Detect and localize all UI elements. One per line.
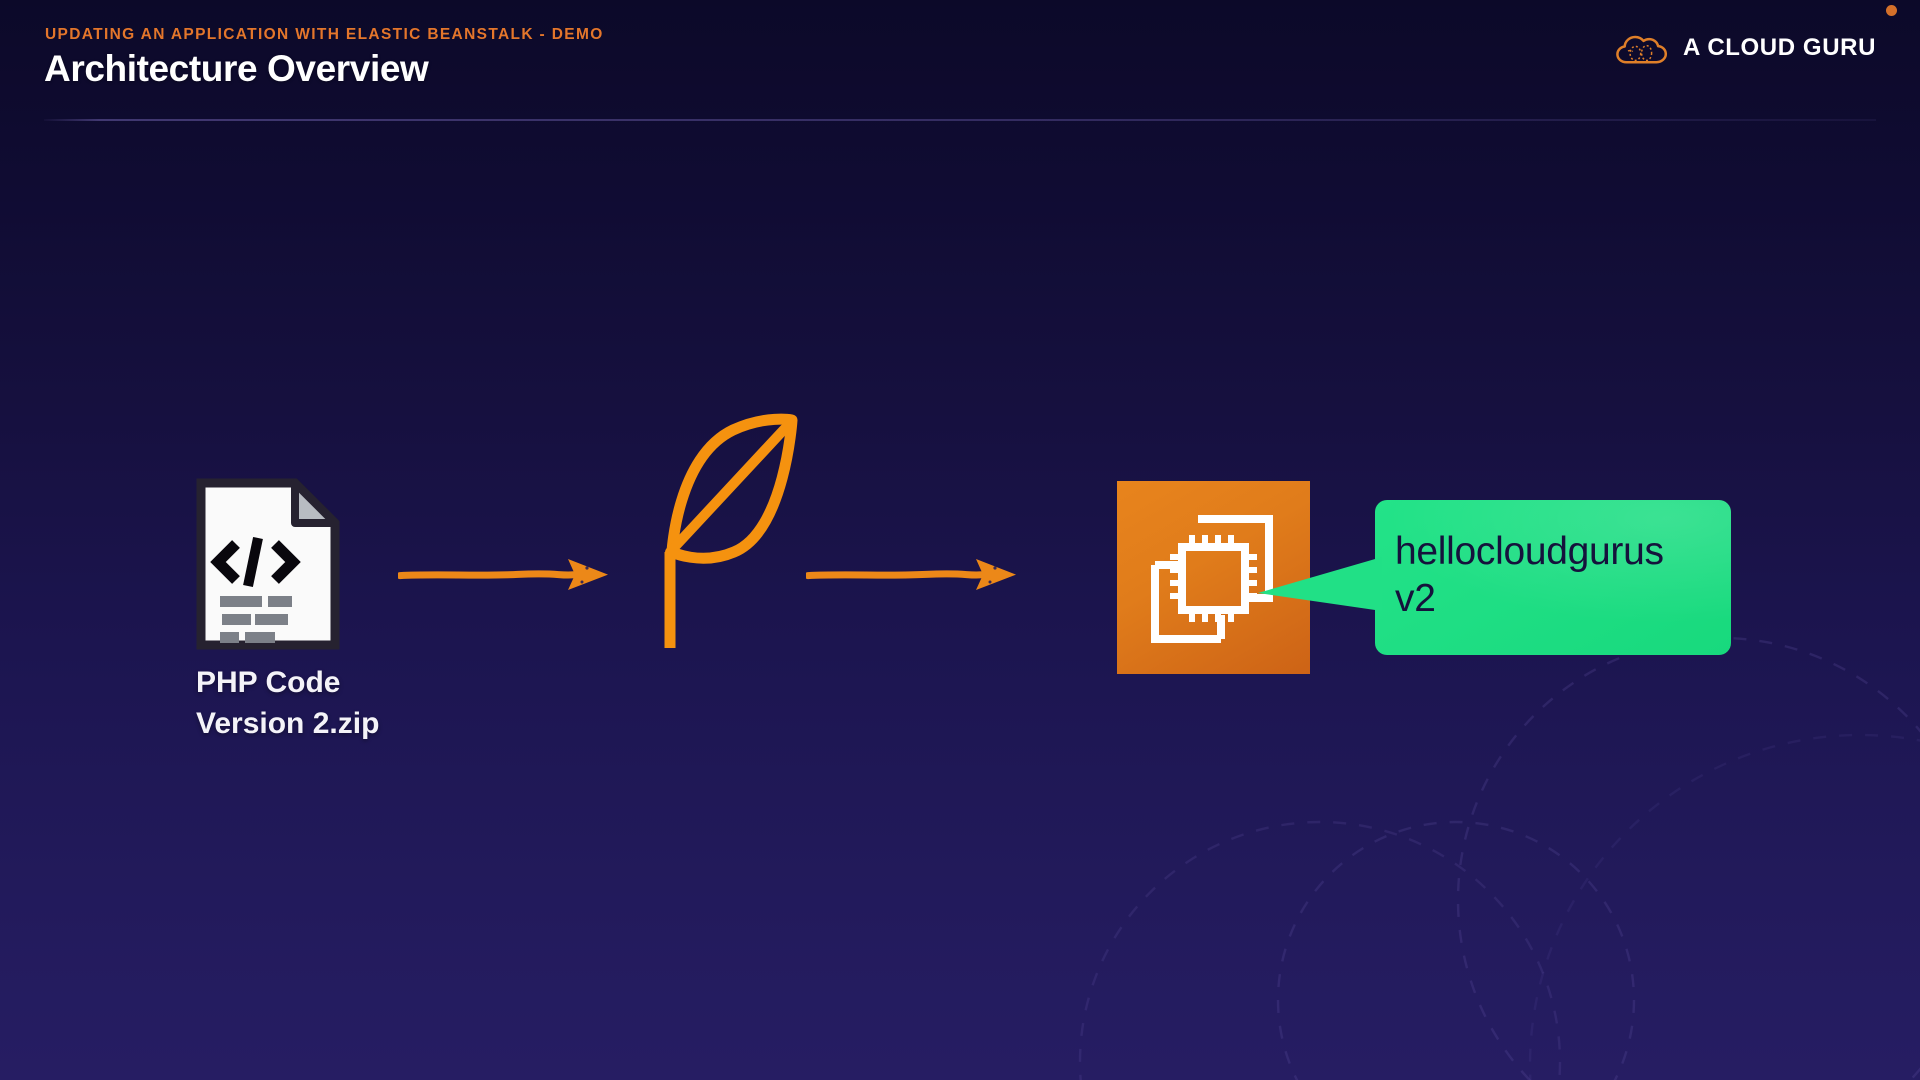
callout-text: hellocloudgurus v2: [1395, 528, 1719, 622]
flow-arrow-icon: [398, 555, 612, 593]
callout-text-line-1: hellocloudgurus: [1395, 528, 1719, 575]
elastic-beanstalk-leaf-icon: [655, 411, 803, 654]
node-label-line-1: PHP Code: [196, 662, 526, 703]
callout-text-line-2: v2: [1395, 575, 1719, 622]
node-label-line-2: Version 2.zip: [196, 703, 526, 744]
flow-arrow-icon: [806, 555, 1020, 593]
slide-canvas: UPDATING AN APPLICATION WITH ELASTIC BEA…: [0, 0, 1920, 1080]
node-label-php-code: PHP Code Version 2.zip: [196, 662, 526, 744]
architecture-diagram: PHP Code Version 2.zip: [0, 0, 1920, 1080]
callout-pointer-icon: [1258, 555, 1383, 625]
code-file-icon: [196, 478, 340, 650]
callout-hellocloudgurus: hellocloudgurus v2: [1375, 500, 1731, 655]
